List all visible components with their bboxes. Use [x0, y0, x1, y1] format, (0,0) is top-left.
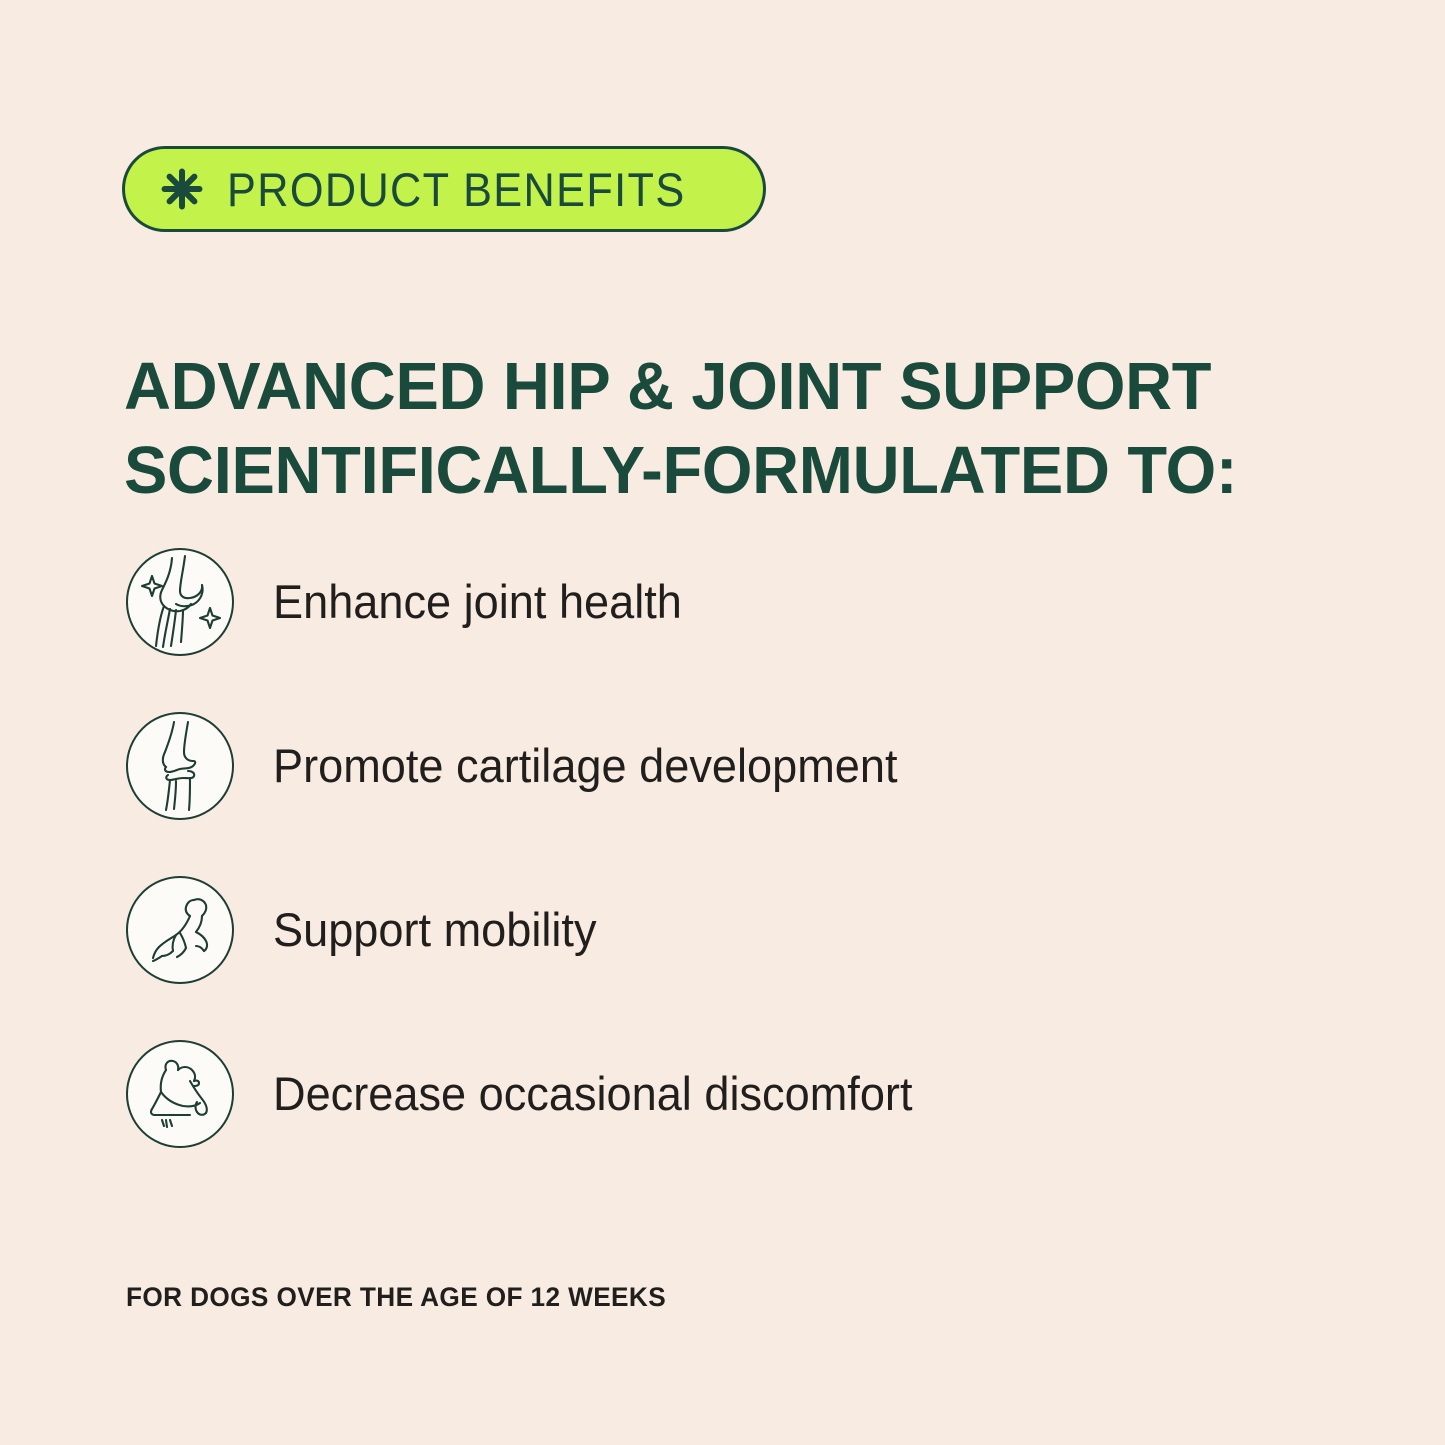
benefits-list: Enhance joint health Promote cartilage	[126, 548, 1306, 1148]
age-requirement-note: FOR DOGS OVER THE AGE OF 12 WEEKS	[126, 1282, 666, 1313]
page-title-line-1: ADVANCED HIP & JOINT SUPPORT	[124, 345, 1317, 429]
benefit-label: Support mobility	[273, 904, 597, 956]
product-benefits-badge: PRODUCT BENEFITS	[122, 146, 766, 232]
list-item: Decrease occasional discomfort	[126, 1040, 1306, 1148]
benefit-label: Promote cartilage development	[273, 740, 898, 792]
page-title: ADVANCED HIP & JOINT SUPPORT SCIENTIFICA…	[124, 345, 1354, 513]
list-item: Promote cartilage development	[126, 712, 1306, 820]
knee-joint-sparkle-icon	[126, 548, 234, 656]
product-benefits-panel: PRODUCT BENEFITS ADVANCED HIP & JOINT SU…	[0, 0, 1445, 1445]
page-title-line-2: SCIENTIFICALLY-FORMULATED TO:	[124, 429, 1317, 513]
asterisk-icon	[159, 166, 205, 212]
list-item: Enhance joint health	[126, 548, 1306, 656]
list-item: Support mobility	[126, 876, 1306, 984]
benefit-label: Decrease occasional discomfort	[273, 1068, 912, 1120]
leaping-dog-icon	[126, 876, 234, 984]
knee-joint-cartilage-icon	[126, 712, 234, 820]
badge-label: PRODUCT BENEFITS	[227, 166, 686, 213]
resting-dog-icon	[126, 1040, 234, 1148]
benefit-label: Enhance joint health	[273, 576, 682, 628]
